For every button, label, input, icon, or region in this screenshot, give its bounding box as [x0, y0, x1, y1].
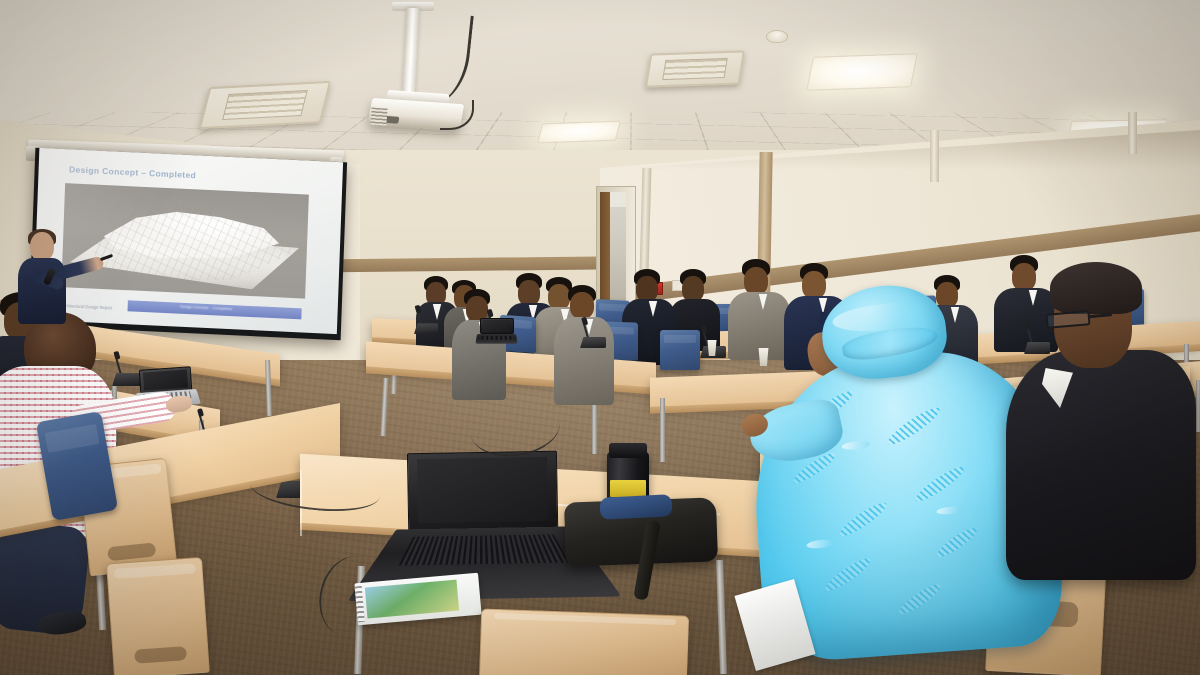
screen-surface: Design Concept – Completed Design Concep… [33, 148, 343, 334]
chair-wood-left-2[interactable] [106, 557, 210, 675]
suit-torso [1006, 350, 1196, 580]
slide-footnote: Architectural Design Report [61, 303, 112, 312]
conference-microphone[interactable] [414, 306, 438, 334]
laptop-screen [417, 457, 548, 523]
panel-light-2 [537, 121, 621, 144]
conference-room-scene: Design Concept – Completed Design Concep… [0, 0, 1200, 675]
conference-microphone[interactable] [112, 352, 142, 386]
slide-title: Design Concept – Completed [69, 165, 196, 181]
hair [1050, 262, 1142, 314]
chair-wood-front-center[interactable] [479, 608, 689, 675]
thermos-cap [609, 443, 648, 459]
projection-screen[interactable]: Design Concept – Completed Design Concep… [29, 148, 347, 341]
laptop-row[interactable] [480, 318, 514, 344]
wall-mullion-3 [930, 130, 939, 182]
slide-image [62, 184, 309, 299]
chair-blue-m3[interactable] [660, 330, 700, 370]
door-leaf[interactable] [600, 192, 610, 308]
ac-cassette-right-icon [645, 50, 745, 87]
conference-microphone[interactable] [580, 318, 606, 348]
slide-footer-text: Design Concept – Completed [180, 304, 232, 311]
wall-mullion-4 [1128, 112, 1137, 154]
laptop-foreground[interactable] [407, 451, 559, 580]
projector-vent [370, 107, 387, 125]
table-leg [660, 398, 665, 462]
head [30, 232, 54, 261]
laptop-lid [407, 451, 558, 532]
smoke-detector-icon [766, 30, 788, 43]
ac-cassette-left-icon [199, 81, 331, 129]
panel-light-1 [806, 53, 917, 91]
thermos-label [610, 480, 647, 497]
model-detail-lines [62, 184, 309, 299]
table-leg [1196, 380, 1200, 432]
slide-footer-bar: Design Concept – Completed [128, 300, 301, 319]
blue-pouch[interactable] [599, 494, 672, 520]
